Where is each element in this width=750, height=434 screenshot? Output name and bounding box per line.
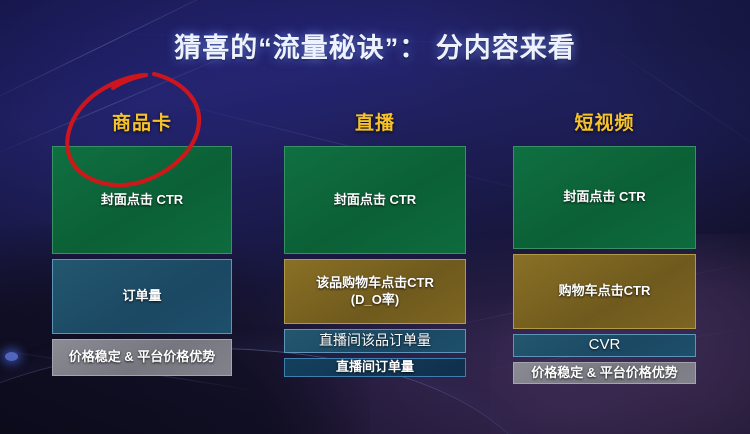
metric-box-live-product-orders[interactable]: 直播间该品订单量 [284,329,466,353]
column-product-card: 商品卡 封面点击 CTR 订单量 价格稳定 & 平台价格优势 [52,112,232,381]
column-header-short-video: 短视频 [513,112,696,136]
metric-box-cover-click-ctr[interactable]: 封面点击 CTR [284,146,466,254]
column-short-video: 短视频 封面点击 CTR 购物车点击CTR CVR 价格稳定 & 平台价格优势 [513,112,696,389]
column-live-stream: 直播 封面点击 CTR 该品购物车点击CTR (D_O率) 直播间该品订单量 直… [284,112,466,382]
metric-label-sub: (D_O率) [351,292,399,308]
metric-box-price-advantage[interactable]: 价格稳定 & 平台价格优势 [52,339,232,376]
metric-box-live-room-orders[interactable]: 直播间订单量 [284,358,466,377]
page-title: 猜喜的“流量秘诀”： 分内容来看 [0,26,750,65]
column-header-live-stream: 直播 [284,112,466,136]
metric-box-cart-click-ctr[interactable]: 购物车点击CTR [513,254,696,329]
metric-box-cart-click-ctr[interactable]: 该品购物车点击CTR (D_O率) [284,259,466,324]
metric-box-cover-click-ctr[interactable]: 封面点击 CTR [52,146,232,254]
column-header-product-card: 商品卡 [52,112,232,136]
slide-canvas: 猜喜的“流量秘诀”： 分内容来看 商品卡 封面点击 CTR 订单量 价格稳定 &… [0,0,750,434]
metric-box-cover-click-ctr[interactable]: 封面点击 CTR [513,146,696,249]
metric-box-order-volume[interactable]: 订单量 [52,259,232,334]
metric-box-cvr[interactable]: CVR [513,334,696,357]
metric-label-main: 该品购物车点击CTR [316,275,434,291]
metric-box-price-advantage[interactable]: 价格稳定 & 平台价格优势 [513,362,696,384]
